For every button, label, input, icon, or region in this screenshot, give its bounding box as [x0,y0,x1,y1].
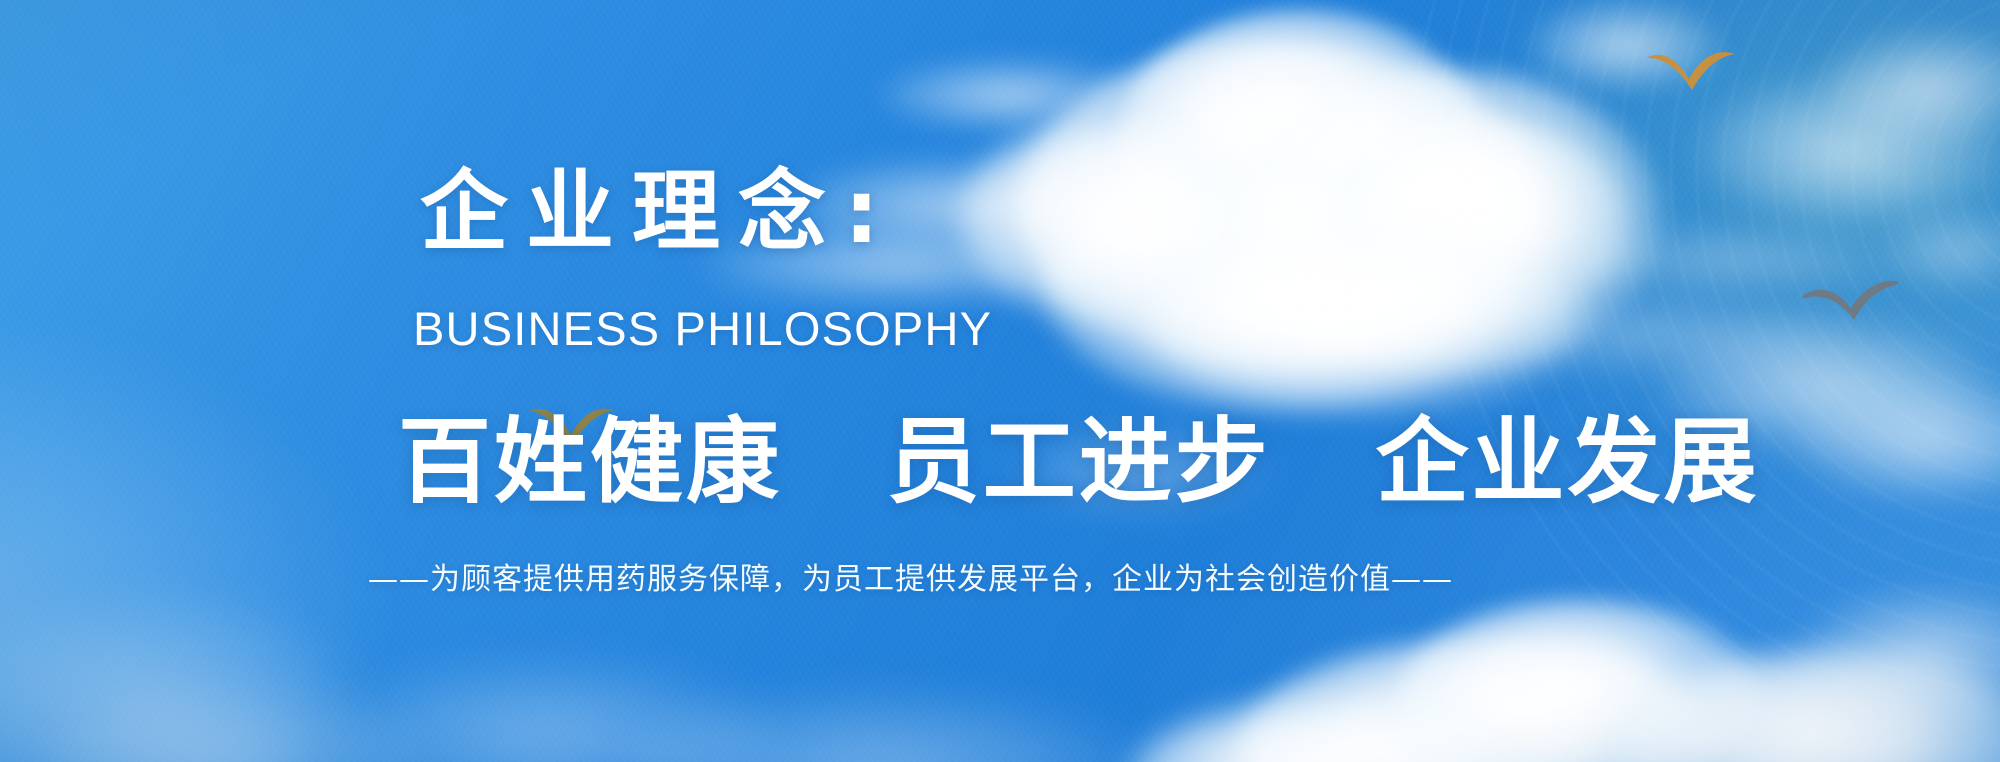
slogan-segment-1: 百姓健康 [398,408,782,516]
slogan-line: 百姓健康 员工进步 企业发展 [398,416,1760,509]
page-title-chinese: 企业理念: [420,168,897,256]
slogan-segment-3: 企业发展 [1376,408,1760,516]
business-philosophy-banner: 企业理念: BUSINESS PHILOSOPHY 百姓健康 员工进步 企业发展… [0,0,2000,762]
tagline-text: ——为顾客提供用药服务保障，为员工提供发展平台，企业为社会创造价值—— [368,565,1453,595]
slogan-segment-2: 员工进步 [887,408,1271,516]
banner-text-content: 企业理念: BUSINESS PHILOSOPHY 百姓健康 员工进步 企业发展… [0,0,2000,762]
page-subtitle-english: BUSINESS PHILOSOPHY [413,305,992,352]
